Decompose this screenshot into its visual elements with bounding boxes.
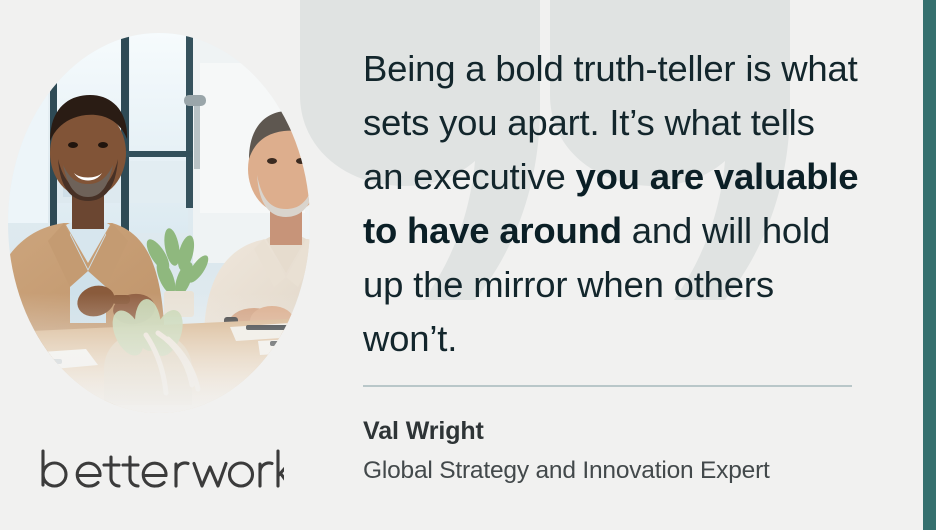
quote-block: Being a bold truth-teller is what sets y…	[363, 42, 863, 366]
betterworks-logo	[38, 447, 284, 493]
speaker-photo	[8, 33, 310, 413]
author-title: Global Strategy and Innovation Expert	[363, 454, 883, 487]
attribution-divider	[363, 385, 852, 387]
author-name: Val Wright	[363, 414, 883, 448]
quote-card: Being a bold truth-teller is what sets y…	[0, 0, 936, 530]
accent-bar	[923, 0, 936, 530]
quote-text: Being a bold truth-teller is what sets y…	[363, 42, 863, 366]
attribution-block: Val Wright Global Strategy and Innovatio…	[363, 414, 883, 487]
